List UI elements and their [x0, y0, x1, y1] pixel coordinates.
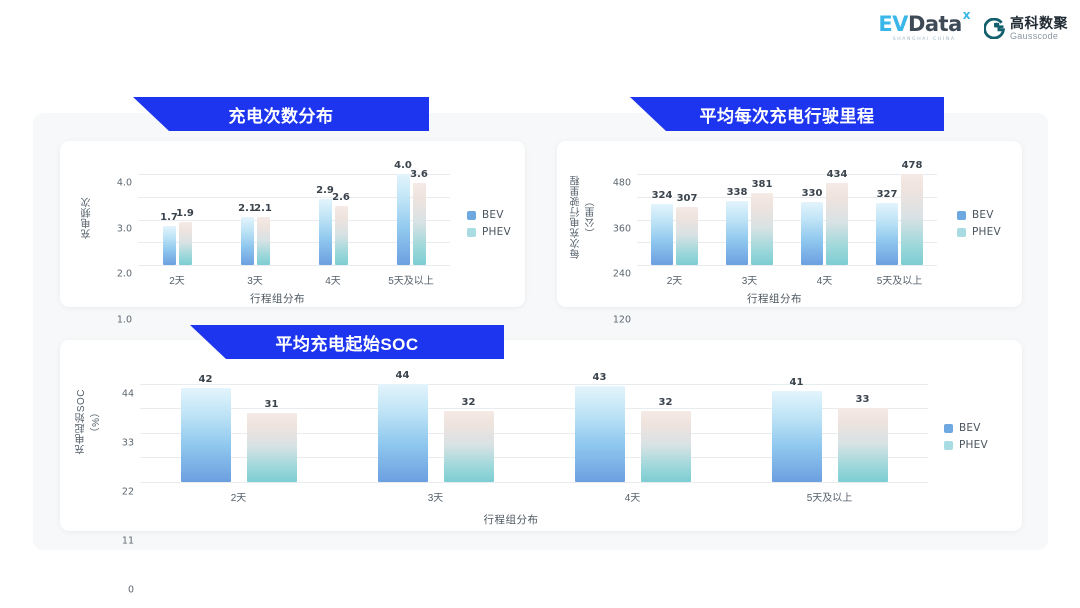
bar-value-label: 33	[856, 394, 870, 405]
chart-charging-frequency: 充电频次 0.01.02.03.04.01.71.92天2.12.13天2.92…	[60, 141, 525, 307]
bar-value-label: 307	[677, 193, 698, 204]
bar-group: 44323天	[337, 374, 534, 482]
bar-bev[interactable]: 338	[726, 201, 748, 265]
bar-groups: 1.71.92天2.12.13天2.92.64天4.03.65天及以上	[138, 165, 450, 265]
legend-swatch-icon	[467, 211, 476, 220]
bar-value-label: 478	[902, 160, 923, 171]
evdata-x-icon: x	[963, 9, 970, 21]
y-axis-tick-label: 3.0	[117, 223, 132, 234]
x-axis-tick-label: 2天	[169, 272, 185, 287]
legend-swatch-icon	[944, 424, 953, 433]
y-axis-tick-label: 22	[122, 486, 134, 497]
chart3-y-axis-label: 充电起始SOC （%）	[74, 368, 104, 476]
chart2-y-axis-label: 每次充电行驶里程 （公里）	[569, 163, 599, 271]
bar-phev[interactable]: 434	[826, 183, 848, 265]
bar-group: 1.71.92天	[138, 165, 216, 265]
bar-value-label: 31	[265, 399, 279, 410]
legend-swatch-icon	[957, 228, 966, 237]
bar-group: 3383813天	[712, 165, 787, 265]
gausscode-g-mark-icon	[984, 18, 1005, 39]
chart-card-avg-range: 每次充电行驶里程 （公里） 01202403604803243072天33838…	[557, 141, 1022, 307]
legend-item-phev[interactable]: PHEV	[467, 226, 511, 238]
bar-phev[interactable]: 1.9	[179, 222, 192, 265]
y-axis-tick-label: 33	[122, 437, 134, 448]
bar-value-label: 3.6	[410, 169, 428, 180]
chart3-y-axis-label-line2: （%）	[89, 407, 104, 437]
bar-value-label: 330	[802, 188, 823, 199]
bar-bev[interactable]: 43	[575, 386, 625, 482]
chart2-y-axis-label-line1: 每次充电行驶里程	[569, 175, 584, 259]
bar-group: 3274785天及以上	[862, 165, 937, 265]
legend-swatch-icon	[467, 228, 476, 237]
x-axis-tick-label: 2天	[231, 489, 247, 504]
y-axis-tick-label: 2.0	[117, 269, 132, 280]
chart3-y-axis-label-line1: 充电起始SOC	[74, 389, 89, 454]
evdata-data-text: Data	[908, 14, 962, 35]
bar-phev[interactable]: 2.1	[257, 217, 270, 265]
bar-phev[interactable]: 2.6	[335, 206, 348, 265]
bar-value-label: 327	[877, 189, 898, 200]
y-axis-tick-label: 360	[613, 223, 631, 234]
chart3-legend: BEVPHEV	[944, 422, 988, 451]
gausscode-text: 高科数聚 Gausscode	[1010, 16, 1068, 41]
bar-phev[interactable]: 32	[641, 411, 691, 482]
bar-value-label: 43	[593, 372, 607, 383]
bar-group: 4.03.65天及以上	[372, 165, 450, 265]
chart1-plot-area: 0.01.02.03.04.01.71.92天2.12.13天2.92.64天4…	[138, 165, 450, 265]
chart3-x-axis-label: 行程组分布	[120, 512, 902, 527]
chart1-legend: BEVPHEV	[467, 209, 511, 238]
bar-phev[interactable]: 33	[838, 408, 888, 482]
bar-group: 42312天	[140, 374, 337, 482]
bar-bev[interactable]: 41	[772, 391, 822, 482]
x-axis-tick-label: 4天	[325, 272, 341, 287]
bar-group: 2.92.64天	[294, 165, 372, 265]
bar-value-label: 41	[790, 377, 804, 388]
bar-phev[interactable]: 307	[676, 207, 698, 265]
y-axis-tick-label: 1.0	[117, 314, 132, 325]
legend-item-phev[interactable]: PHEV	[957, 226, 1001, 238]
bar-value-label: 324	[652, 190, 673, 201]
x-axis-tick-label: 3天	[247, 272, 263, 287]
y-axis-tick-label: 480	[613, 178, 631, 189]
y-axis-tick-label: 44	[122, 388, 134, 399]
chart-title-banner-2: 平均每次充电行驶里程	[630, 97, 944, 131]
x-axis-tick-label: 5天及以上	[877, 272, 923, 287]
x-axis-tick-label: 4天	[625, 489, 641, 504]
bar-bev[interactable]: 2.9	[319, 199, 332, 265]
chart3-plot-area: 01122334442312天44323天43324天41335天及以上	[140, 374, 928, 482]
legend-item-bev[interactable]: BEV	[944, 422, 988, 434]
legend-item-bev[interactable]: BEV	[467, 209, 511, 221]
legend-label: PHEV	[972, 226, 1001, 238]
bar-phev[interactable]: 381	[751, 193, 773, 265]
gausscode-en-name: Gausscode	[1010, 32, 1068, 41]
chart-card-charging-frequency: 充电频次 0.01.02.03.04.01.71.92天2.12.13天2.92…	[60, 141, 525, 307]
bar-group: 3243072天	[637, 165, 712, 265]
chart2-plot-area: 01202403604803243072天3383813天3304344天327…	[637, 165, 937, 265]
bar-group: 2.12.13天	[216, 165, 294, 265]
bar-phev[interactable]: 32	[444, 411, 494, 482]
bar-value-label: 338	[727, 187, 748, 198]
y-axis-tick-label: 120	[613, 314, 631, 325]
x-axis-tick-label: 2天	[667, 272, 683, 287]
bar-groups: 42312天44323天43324天41335天及以上	[140, 374, 928, 482]
bar-bev[interactable]: 44	[378, 384, 428, 482]
chart1-x-axis-label: 行程组分布	[120, 291, 435, 306]
bar-value-label: 434	[827, 169, 848, 180]
bar-phev[interactable]: 478	[901, 174, 923, 265]
bar-bev[interactable]: 1.7	[163, 226, 176, 265]
bar-bev[interactable]: 330	[801, 202, 823, 265]
legend-swatch-icon	[944, 441, 953, 450]
chart-avg-range: 每次充电行驶里程 （公里） 01202403604803243072天33838…	[557, 141, 1022, 307]
bar-phev[interactable]: 31	[247, 413, 297, 482]
bar-group: 41335天及以上	[731, 374, 928, 482]
gausscode-cn-name: 高科数聚	[1010, 16, 1068, 30]
evdata-ev-text: EV	[878, 14, 908, 35]
evdata-tagline: SHANGHAI CHINA	[893, 37, 956, 42]
legend-label: PHEV	[482, 226, 511, 238]
legend-label: BEV	[482, 209, 504, 221]
legend-label: BEV	[972, 209, 994, 221]
bar-value-label: 42	[199, 374, 213, 385]
chart1-y-axis-label: 充电频次	[80, 183, 95, 253]
bar-group: 43324天	[534, 374, 731, 482]
chart2-y-axis-label-line2: （公里）	[584, 196, 599, 238]
legend-label: BEV	[959, 422, 981, 434]
gridline: 0.0	[138, 265, 450, 266]
chart-card-avg-start-soc: 充电起始SOC （%） 01122334442312天44323天43324天4…	[60, 340, 1022, 531]
bar-value-label: 32	[659, 397, 673, 408]
x-axis-tick-label: 4天	[817, 272, 833, 287]
bar-groups: 3243072天3383813天3304344天3274785天及以上	[637, 165, 937, 265]
bar-value-label: 32	[462, 397, 476, 408]
bar-value-label: 2.1	[254, 203, 272, 214]
bar-value-label: 1.9	[176, 208, 194, 219]
bar-bev[interactable]: 327	[876, 203, 898, 265]
gridline: 0	[637, 265, 937, 266]
bar-group: 3304344天	[787, 165, 862, 265]
evdata-wordmark: EVDatax	[878, 14, 970, 35]
bar-phev[interactable]: 3.6	[413, 183, 426, 265]
chart-title-banner-1: 充电次数分布	[133, 97, 429, 131]
bar-value-label: 381	[752, 179, 773, 190]
evdata-logo: EVDatax SHANGHAI CHINA	[878, 14, 970, 42]
y-axis-tick-label: 0	[128, 585, 134, 596]
chart-title-banner-3: 平均充电起始SOC	[190, 325, 504, 359]
bar-value-label: 2.6	[332, 192, 350, 203]
y-axis-tick-label: 11	[122, 535, 134, 546]
x-axis-tick-label: 3天	[428, 489, 444, 504]
header-logos: EVDatax SHANGHAI CHINA 高科数聚 Gausscode	[878, 14, 1068, 42]
gausscode-logo: 高科数聚 Gausscode	[984, 16, 1068, 41]
bar-bev[interactable]: 2.1	[241, 217, 254, 265]
chart2-legend: BEVPHEV	[957, 209, 1001, 238]
chart2-x-axis-label: 行程组分布	[617, 291, 932, 306]
legend-swatch-icon	[957, 211, 966, 220]
bar-value-label: 44	[396, 370, 410, 381]
x-axis-tick-label: 5天及以上	[388, 272, 434, 287]
x-axis-tick-label: 5天及以上	[807, 489, 853, 504]
legend-item-phev[interactable]: PHEV	[944, 439, 988, 451]
y-axis-tick-label: 240	[613, 269, 631, 280]
x-axis-tick-label: 3天	[742, 272, 758, 287]
bar-bev[interactable]: 42	[181, 388, 231, 482]
gridline: 0	[140, 482, 928, 483]
chart-avg-start-soc: 充电起始SOC （%） 01122334442312天44323天43324天4…	[60, 340, 1022, 531]
legend-item-bev[interactable]: BEV	[957, 209, 1001, 221]
y-axis-tick-label: 4.0	[117, 178, 132, 189]
legend-label: PHEV	[959, 439, 988, 451]
bar-bev[interactable]: 324	[651, 204, 673, 265]
bar-bev[interactable]: 4.0	[397, 174, 410, 265]
